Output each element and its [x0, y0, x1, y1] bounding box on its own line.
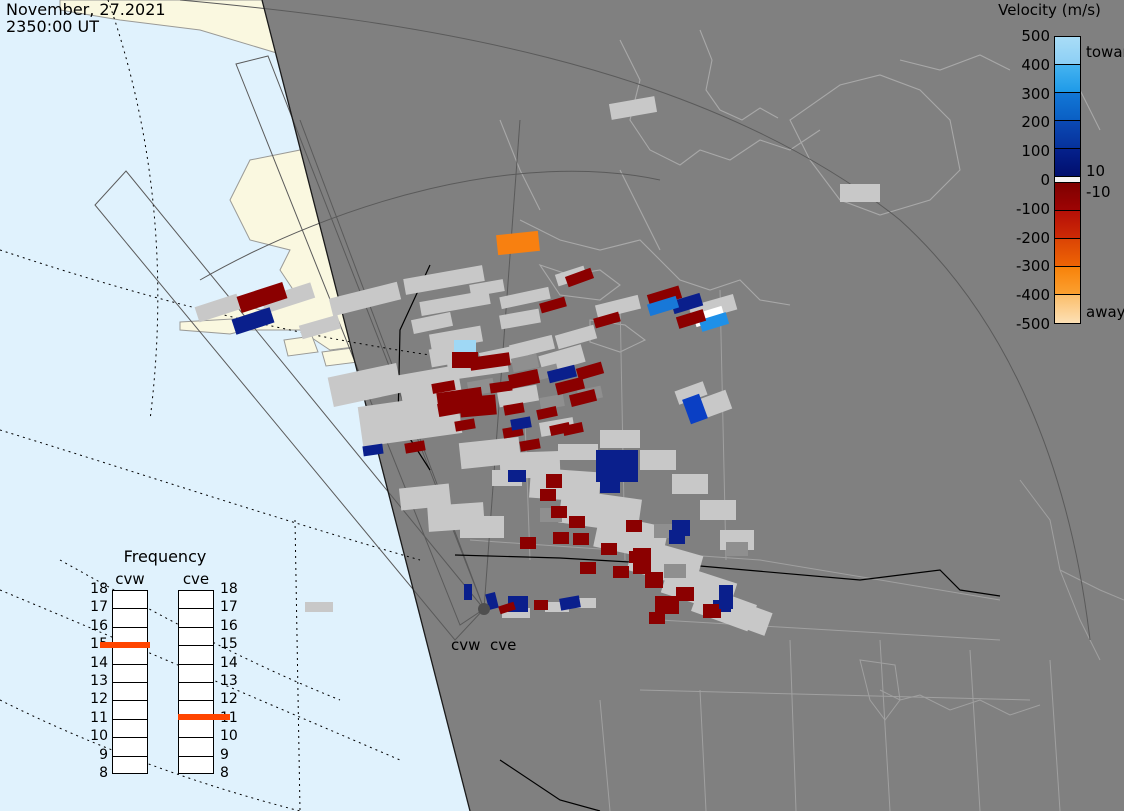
colorbar-tick--200: -200 [988, 231, 1050, 246]
gauge-cvw-tick-12: 12 [90, 692, 108, 706]
colorbar-tick-500: 500 [988, 29, 1050, 44]
gauge-cve-cell-7 [179, 720, 213, 738]
scatter-cell [454, 340, 476, 352]
gauge-cve-cell-3 [179, 646, 213, 664]
colorbar-band-1 [1055, 65, 1080, 93]
colorbar-tick--100: -100 [988, 202, 1050, 217]
gauge-cve-tick-13: 13 [220, 674, 238, 688]
frequency-gauge-cvw[interactable]: cvw [112, 590, 148, 774]
scatter-cell [676, 587, 694, 601]
gauge-cvw-tick-11: 11 [90, 711, 108, 725]
gauge-cve-cell-2 [179, 628, 213, 646]
scatter-cell [719, 585, 733, 609]
scatter-cell [703, 604, 721, 618]
scatter-cell [580, 562, 596, 574]
gauge-cvw-cell-7 [113, 720, 147, 738]
scatter-cell [534, 600, 548, 610]
colorbar-band-8 [1055, 267, 1080, 295]
gauge-cvw-tick-17: 17 [90, 600, 108, 614]
colorbar-band-9 [1055, 295, 1080, 323]
gauge-cvw-tick-13: 13 [90, 674, 108, 688]
colorbar-tick-100: 100 [988, 144, 1050, 159]
gauge-cve-tick-17: 17 [220, 600, 238, 614]
scatter-cell [645, 572, 663, 588]
gauge-cvw-cell-3 [113, 646, 147, 664]
scatter-cell [464, 584, 472, 600]
frequency-gauge-cve[interactable]: cve [178, 590, 214, 774]
gauge-cve-tick-18: 18 [220, 582, 238, 596]
timestamp-label: November, 27.2021 2350:00 UT [6, 1, 166, 35]
gauge-cvw-box [112, 590, 148, 774]
scatter-cell [655, 596, 679, 614]
colorbar-band-0 [1055, 37, 1080, 65]
gauge-cvw-cell-1 [113, 609, 147, 627]
scatter-cell [569, 516, 585, 528]
gauge-cvw-tick-8: 8 [90, 766, 108, 780]
scatter-cell [540, 489, 556, 501]
scatter-cell [613, 566, 629, 578]
colorbar-gradient [1054, 36, 1081, 324]
scatter-cell [508, 470, 526, 482]
map-label-cve: cve [490, 636, 516, 654]
gauge-cve-label: cve [178, 570, 214, 588]
scatter-cell [626, 520, 642, 532]
colorbar-tick-0: 0 [988, 173, 1050, 188]
fan-plot-canvas: November, 27.2021 2350:00 UT Velocity (m… [0, 0, 1124, 811]
colorbar-band-2 [1055, 93, 1080, 121]
colorbar-threshold-low-label: -10 [1086, 185, 1111, 200]
scatter-cell [600, 475, 620, 493]
scatter-cell [553, 532, 569, 544]
scatter-cell [601, 543, 617, 555]
gauge-cve-tick-15: 15 [220, 637, 238, 651]
colorbar-tick--400: -400 [988, 288, 1050, 303]
colorbar-away-label: away [1086, 305, 1124, 320]
scatter-cell [520, 537, 536, 549]
gauge-cve-marker [178, 714, 230, 720]
velocity-colorbar: Velocity (m/s) 5004003002001000-100-200-… [975, 0, 1124, 340]
gauge-cvw-cell-4 [113, 665, 147, 683]
colorbar-threshold-high-label: 10 [1086, 164, 1105, 179]
gauge-cvw-cell-0 [113, 591, 147, 609]
gauge-cve-tick-16: 16 [220, 619, 238, 633]
colorbar-tick-400: 400 [988, 58, 1050, 73]
colorbar-band-7 [1055, 239, 1080, 267]
landmass-island-a [284, 336, 318, 356]
gauge-cvw-tick-18: 18 [90, 582, 108, 596]
colorbar-toward-label: toward [1086, 45, 1124, 60]
frequency-title: Frequency [90, 547, 240, 566]
gauge-cve-tick-14: 14 [220, 656, 238, 670]
scatter-cell [546, 474, 562, 488]
colorbar-band-6 [1055, 211, 1080, 239]
scatter-cell [669, 530, 685, 544]
gauge-cvw-tick-9: 9 [90, 748, 108, 762]
gauge-cvw-tick-14: 14 [90, 656, 108, 670]
colorbar-tick-200: 200 [988, 115, 1050, 130]
gauge-cvw-cell-5 [113, 683, 147, 701]
gauge-cve-cell-1 [179, 609, 213, 627]
gauge-cve-cell-0 [179, 591, 213, 609]
scatter-cell [633, 548, 651, 574]
scatter-cell [459, 394, 497, 417]
colorbar-band-3 [1055, 121, 1080, 149]
gauge-cvw-cell-9 [113, 757, 147, 775]
gauge-cve-tick-9: 9 [220, 748, 238, 762]
scatter-cell [573, 533, 589, 545]
frequency-legend: Frequency cvw cve 1818171716161515141413… [90, 545, 240, 790]
gauge-cvw-marker [100, 642, 150, 648]
colorbar-tick-labels: 5004003002001000-100-200-300-400-500 [980, 0, 1050, 340]
radar-site-marker[interactable] [478, 603, 490, 615]
gauge-cve-cell-8 [179, 738, 213, 756]
gauge-cve-cell-5 [179, 683, 213, 701]
gauge-cvw-cell-8 [113, 738, 147, 756]
gauge-cvw-tick-10: 10 [90, 729, 108, 743]
scatter-cell [649, 612, 665, 624]
map-label-cvw: cvw [451, 636, 480, 654]
colorbar-tick-300: 300 [988, 87, 1050, 102]
gauge-cve-box [178, 590, 214, 774]
colorbar-band-5 [1055, 183, 1080, 211]
gauge-cvw-cell-6 [113, 701, 147, 719]
gauge-cvw-label: cvw [112, 570, 148, 588]
gauge-cvw-tick-16: 16 [90, 619, 108, 633]
colorbar-tick--500: -500 [988, 317, 1050, 332]
scatter-cell [551, 506, 567, 518]
gauge-cve-tick-8: 8 [220, 766, 238, 780]
gauge-cve-tick-10: 10 [220, 729, 238, 743]
colorbar-tick--300: -300 [988, 259, 1050, 274]
gauge-cve-cell-4 [179, 665, 213, 683]
colorbar-band-4 [1055, 149, 1080, 177]
gauge-cve-tick-12: 12 [220, 692, 238, 706]
gauge-cve-cell-9 [179, 757, 213, 775]
